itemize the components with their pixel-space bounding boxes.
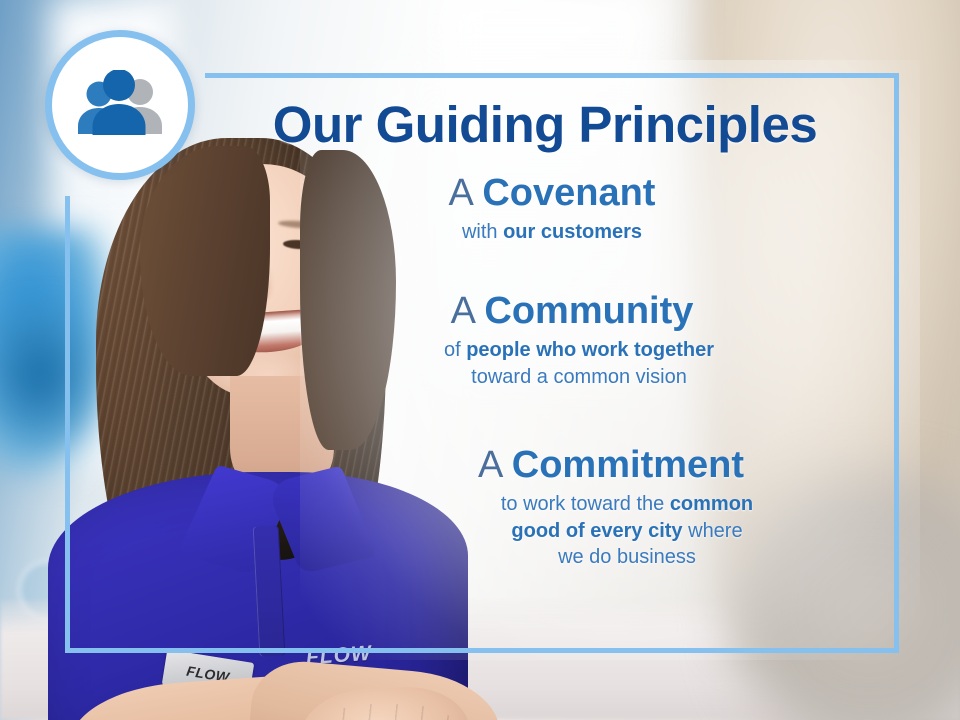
commitment-sub-line2-bold: good of every city xyxy=(511,520,682,542)
covenant-sub-bold: our customers xyxy=(503,221,642,243)
principle-commitment-subtext: to work toward the common good of every … xyxy=(205,491,899,570)
principle-covenant-article: A xyxy=(449,172,483,214)
principle-commitment-heading: A Commitment xyxy=(205,445,899,485)
principle-covenant-heading: A Covenant xyxy=(205,173,899,213)
principle-community-subtext: of people who work together toward a com… xyxy=(205,337,899,390)
principle-covenant-subtext: with our customers xyxy=(205,219,899,245)
principle-covenant-word: Covenant xyxy=(482,172,655,214)
people-group-icon xyxy=(72,70,168,140)
principle-community-article: A xyxy=(451,290,485,332)
guiding-principles-poster: FLOW FLOW xyxy=(0,0,960,720)
principle-community: A Community of people who work together … xyxy=(205,291,899,390)
community-sub-line1-plain: of xyxy=(444,339,466,361)
principle-commitment-article: A xyxy=(478,444,512,486)
community-sub-line2: toward a common vision xyxy=(471,366,687,388)
commitment-sub-line2-plain: where xyxy=(683,520,743,542)
page-title: Our Guiding Principles xyxy=(215,95,875,154)
community-sub-line1-bold: people who work together xyxy=(466,339,714,361)
covenant-sub-plain: with xyxy=(462,221,503,243)
commitment-sub-line1-plain: to work toward the xyxy=(501,493,670,515)
principle-commitment-word: Commitment xyxy=(512,444,744,486)
principle-commitment: A Commitment to work toward the common g… xyxy=(205,445,899,570)
principle-community-heading: A Community xyxy=(205,291,899,331)
principle-covenant: A Covenant with our customers xyxy=(205,173,899,246)
principle-community-word: Community xyxy=(484,290,693,332)
text-content: Our Guiding Principles A Covenant with o… xyxy=(205,73,899,653)
commitment-sub-line3: we do business xyxy=(558,546,696,568)
commitment-sub-line1-bold: common xyxy=(670,493,753,515)
people-badge-circle xyxy=(45,30,195,180)
